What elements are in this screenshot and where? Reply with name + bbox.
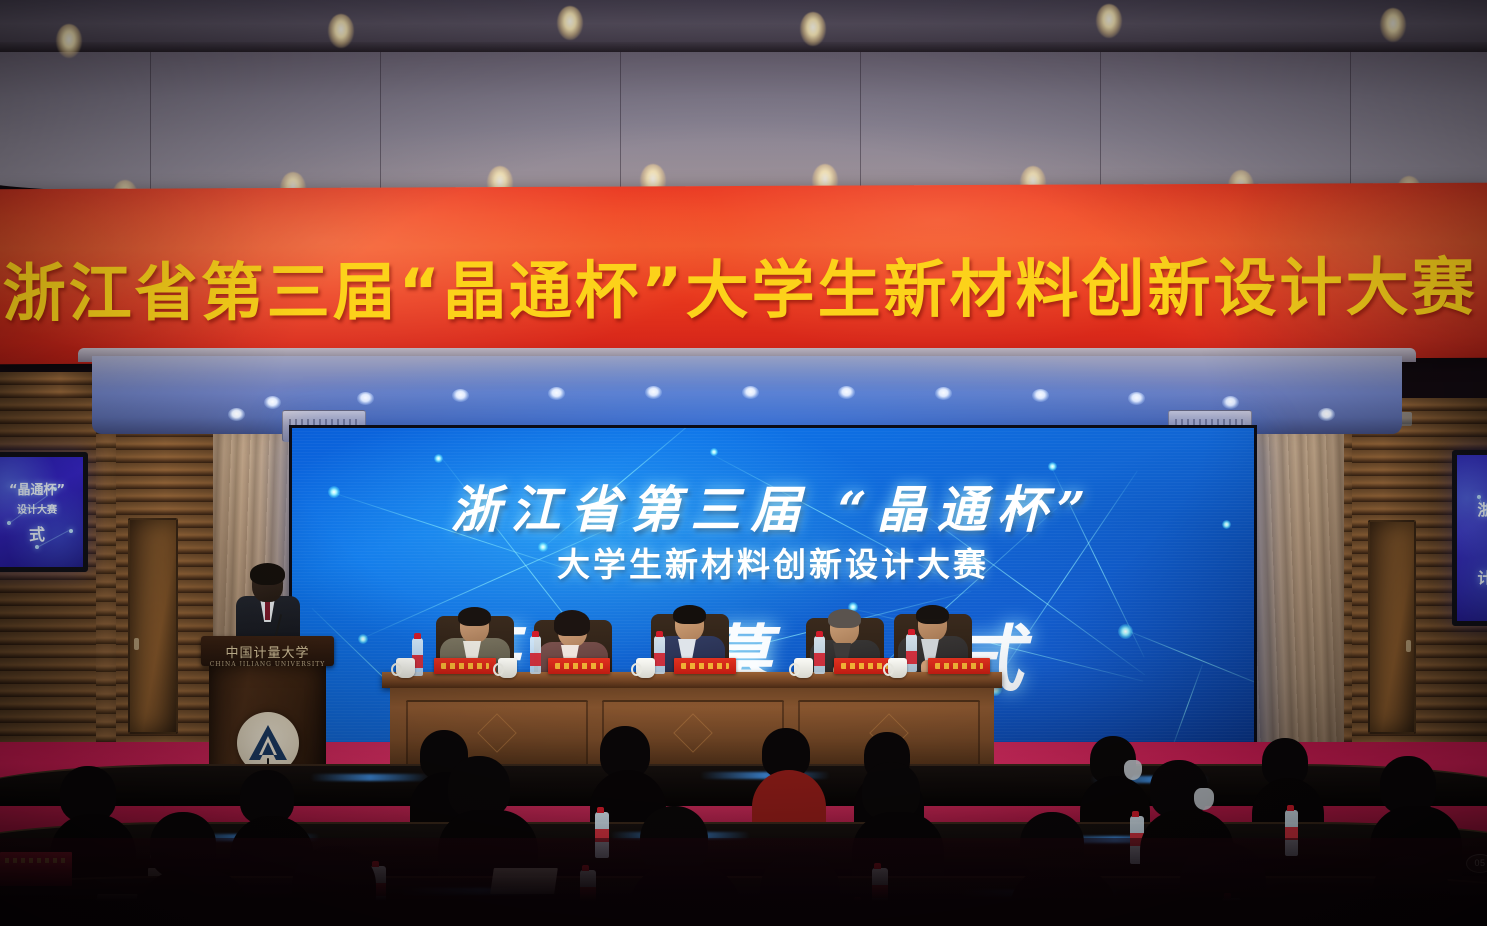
- teacup: [794, 658, 813, 678]
- event-banner: 浙江省第三届“晶通杯”大学生新材料创新设计大赛: [0, 183, 1487, 365]
- glasses-icon: [919, 619, 946, 626]
- teacup: [888, 658, 907, 678]
- side-monitor-right: 浙 计: [1452, 450, 1487, 626]
- bottle-label: [814, 653, 825, 666]
- table-name-plate: [548, 658, 610, 674]
- teacup: [498, 658, 517, 678]
- ceiling-seam: [860, 52, 861, 202]
- host-speaker: [234, 566, 304, 646]
- hair: [554, 610, 590, 636]
- bottle-cap: [414, 633, 421, 639]
- ceiling-seam: [1350, 52, 1351, 202]
- side-monitor-right-screen: 浙 计: [1457, 455, 1487, 621]
- stage-downlight: [452, 389, 469, 402]
- side-monitor-left: “晶通杯” 设计大赛 式: [0, 452, 88, 572]
- stage-downlight: [645, 386, 662, 399]
- bottle-cap: [908, 629, 915, 635]
- ceiling-curved-panel: [0, 52, 1487, 202]
- ceiling-downlight: [1096, 4, 1122, 38]
- door-handle-icon: [1406, 640, 1411, 652]
- table-surface: [382, 672, 1002, 688]
- stage-downlight: [742, 386, 759, 399]
- stage-downlight: [357, 392, 374, 405]
- door-handle-icon: [134, 638, 139, 650]
- bottle-cap: [1132, 811, 1139, 817]
- stage-downlight: [838, 386, 855, 399]
- ceiling-seam: [1100, 52, 1101, 202]
- bottle-cap: [1287, 805, 1294, 811]
- ceiling-downlight: [557, 6, 583, 40]
- ceiling-seam: [380, 52, 381, 202]
- side-monitor-left-line3: 式: [0, 521, 83, 545]
- side-monitor-left-line2: 设计大赛: [0, 501, 83, 516]
- ceiling-downlight: [328, 14, 354, 48]
- lectern-nameplate-text: 中国计量大学: [225, 646, 309, 661]
- table-name-plate: [434, 658, 496, 674]
- bottle-cap: [816, 631, 823, 637]
- water-bottle: [530, 636, 541, 674]
- ceiling-downlight: [56, 24, 82, 58]
- bottle-cap: [656, 631, 663, 637]
- teacup: [636, 658, 655, 678]
- side-monitor-left-screen: “晶通杯” 设计大赛 式: [0, 457, 83, 567]
- side-monitor-left-line1: “晶通杯”: [0, 479, 83, 498]
- side-door-right[interactable]: [1368, 520, 1416, 734]
- bottle-label: [906, 651, 917, 664]
- ceiling-seam: [620, 52, 621, 202]
- banner-title-text: 浙江省第三届“晶通杯”大学生新材料创新设计大赛: [0, 237, 1487, 335]
- conference-hall-photo: 浙江省第三届“晶通杯”大学生新材料创新设计大赛: [0, 0, 1487, 926]
- bottle-label: [530, 653, 541, 666]
- side-monitor-right-line1: 浙: [1457, 499, 1487, 520]
- desk-screen-glow: [310, 774, 430, 781]
- side-monitor-right-line2: 计: [1457, 567, 1487, 588]
- teacup: [396, 658, 415, 678]
- foreground-shadow: [0, 838, 1487, 926]
- bottle-cap: [597, 807, 604, 813]
- stage-downlight: [1222, 396, 1239, 409]
- head: [448, 756, 510, 818]
- bottle-cap: [532, 631, 539, 637]
- ceiling-downlight: [800, 12, 826, 46]
- stage-downlight: [1032, 389, 1049, 402]
- speaker-tie: [265, 602, 270, 620]
- ceiling-glow: [0, 52, 1487, 202]
- water-bottle: [906, 634, 917, 672]
- stage-downlight: [264, 396, 281, 409]
- stage-downlight: [228, 408, 245, 421]
- face-mask: [1124, 760, 1142, 780]
- speaker-hair: [250, 563, 285, 585]
- table-name-plate: [674, 658, 736, 674]
- stage-downlight: [1128, 392, 1145, 405]
- ceiling-seam: [150, 52, 151, 202]
- stage-downlight: [1318, 408, 1335, 421]
- lectern-nameplate: 中国计量大学 CHINA JILIANG UNIVERSITY: [207, 642, 328, 668]
- ceiling-downlight: [1380, 8, 1406, 42]
- ceiling-upper-slab: [0, 0, 1487, 60]
- stage-downlight: [935, 387, 952, 400]
- water-bottle: [654, 636, 665, 674]
- glasses-icon: [461, 621, 488, 628]
- face-mask: [1194, 788, 1214, 810]
- hair: [828, 609, 861, 628]
- table-name-plate: [928, 658, 990, 674]
- stage-downlight: [548, 387, 565, 400]
- water-bottle: [814, 636, 825, 674]
- hair: [673, 605, 706, 624]
- bottle-label: [654, 653, 665, 666]
- side-door-left[interactable]: [128, 518, 178, 734]
